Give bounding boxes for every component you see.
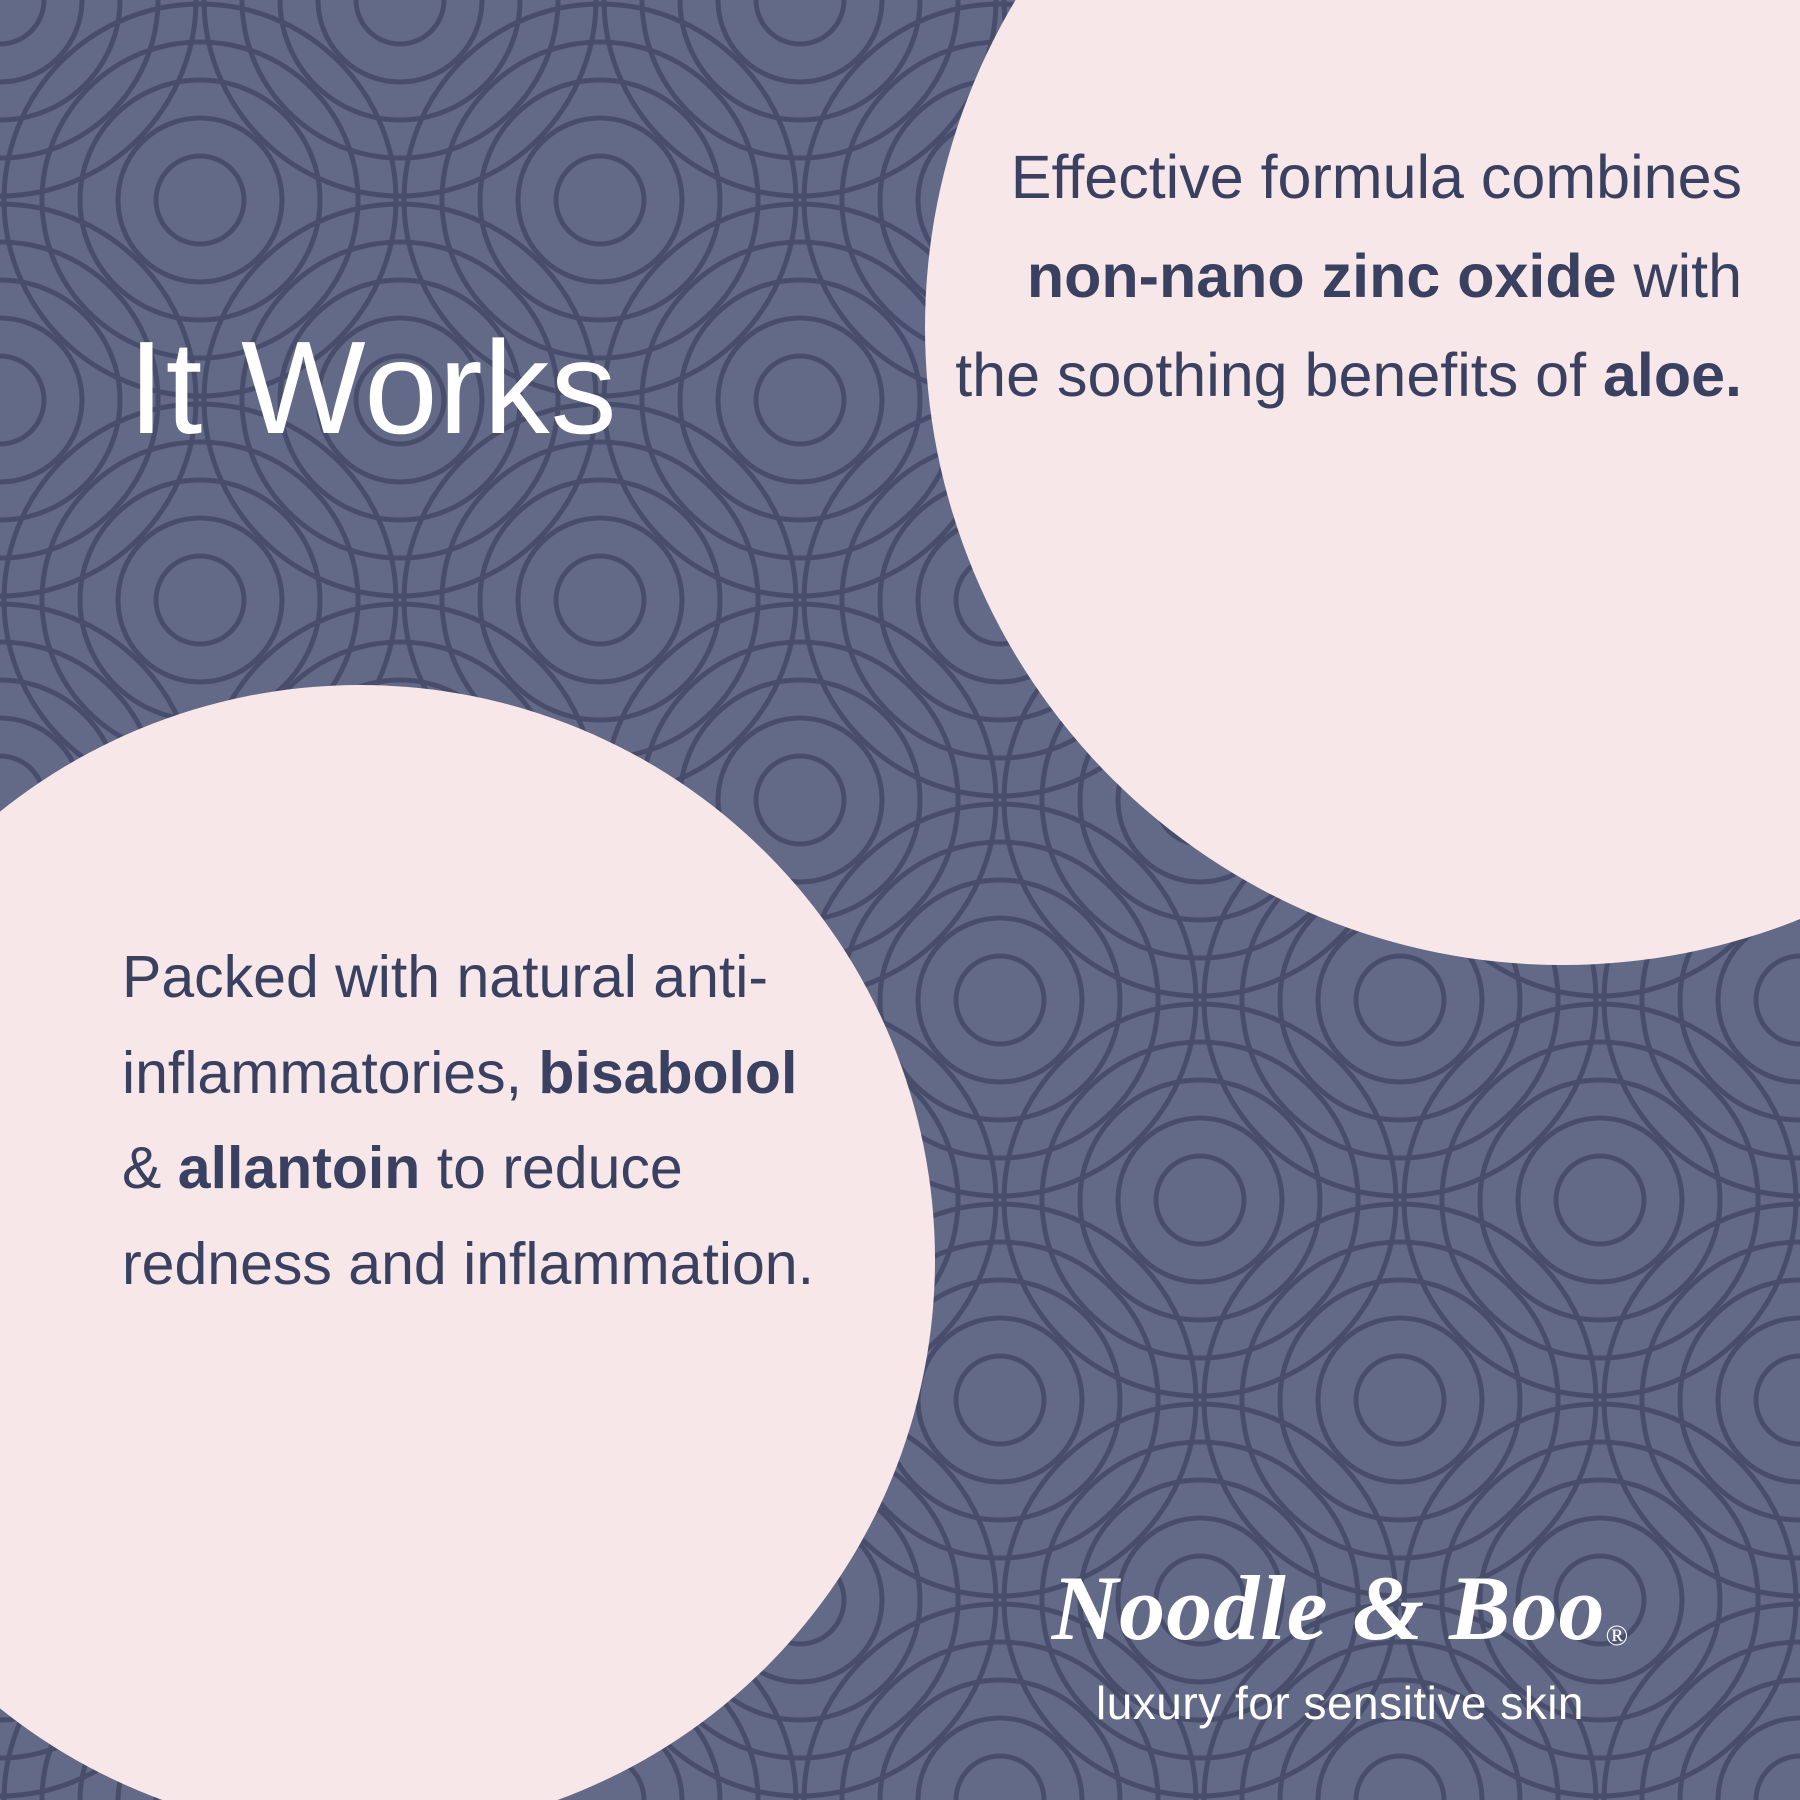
brand-tagline: luxury for sensitive skin [940,1676,1740,1730]
callout-top-right: Effective formula combines non-nano zinc… [942,128,1742,424]
brand-name: Noodle & Boo [1052,1557,1606,1659]
callout-top-right-segment-0: Effective formula combines [1011,143,1742,211]
callout-bottom-left-segment-1: bisabolol [538,1040,797,1106]
callout-top-right-segment-3: aloe. [1603,341,1742,409]
callout-bottom-left: Packed with natural anti-inflammatories,… [122,930,842,1312]
brand-logo: Noodle & Boo® luxury for sensitive skin [940,1562,1740,1730]
callout-top-right-segment-1: non-nano zinc oxide [1027,242,1617,310]
callout-bottom-left-segment-3: allantoin [178,1135,421,1201]
poster-canvas: It Works Effective formula combines non-… [0,0,1800,1800]
page-title: It Works [128,322,618,454]
callout-bottom-left-segment-2: & [122,1135,178,1201]
registered-trademark-icon: ® [1605,1619,1628,1652]
brand-wordmark: Noodle & Boo® [940,1562,1740,1654]
